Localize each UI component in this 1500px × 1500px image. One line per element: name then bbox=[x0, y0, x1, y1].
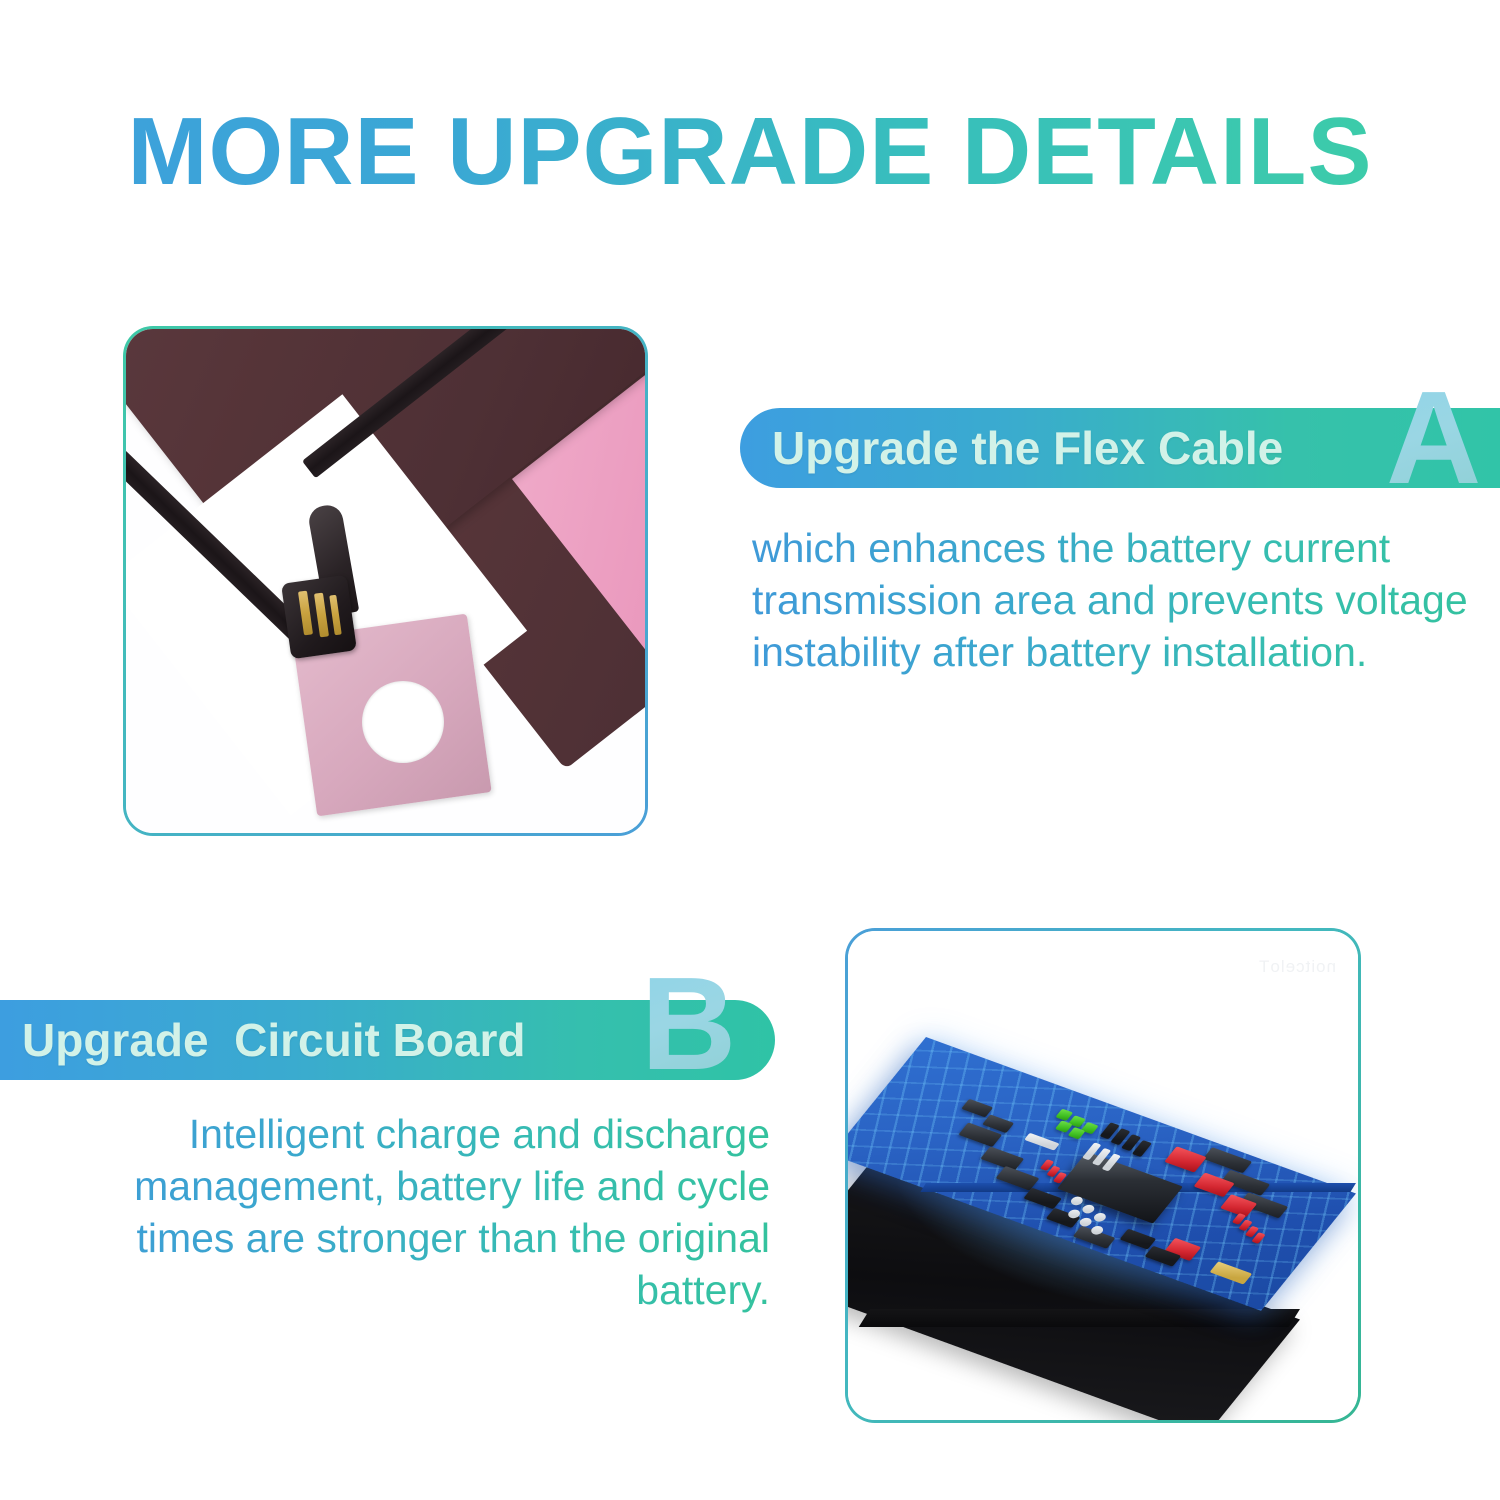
pcb-chip bbox=[980, 1146, 1024, 1171]
watermark-text: noitceloT bbox=[1258, 957, 1336, 977]
circuit-photo-inner: noitceloT bbox=[848, 931, 1358, 1420]
flex-cable-hole bbox=[362, 681, 444, 763]
circuit-board-illustration: noitceloT bbox=[848, 931, 1358, 1420]
battery-flex-cable-photo bbox=[123, 326, 648, 836]
pcb-round-cap bbox=[1080, 1203, 1096, 1214]
circuit-board-photo: noitceloT bbox=[845, 928, 1361, 1423]
pcb-chip bbox=[1120, 1229, 1157, 1250]
section-a-body-text: which enhances the battery current trans… bbox=[752, 522, 1492, 678]
pcb-chip bbox=[1203, 1147, 1252, 1173]
pcb-chip bbox=[1023, 1188, 1062, 1210]
pcb-round-cap bbox=[1092, 1212, 1108, 1223]
section-a-heading-label: Upgrade the Flex Cable bbox=[772, 425, 1283, 471]
pcb-header-strip bbox=[1024, 1133, 1060, 1151]
section-b-body-text: Intelligent charge and discharge managem… bbox=[40, 1108, 770, 1316]
infographic-canvas: MORE UPGRADE DETAILS bbox=[0, 0, 1500, 1500]
page-title: MORE UPGRADE DETAILS bbox=[0, 104, 1500, 200]
battery-photo-inner bbox=[126, 329, 645, 833]
pcb-base-side bbox=[859, 1309, 1300, 1327]
section-a-heading-bar: Upgrade the Flex Cable bbox=[740, 408, 1500, 488]
pcb-gold-pad bbox=[1210, 1261, 1253, 1284]
pcb-capacitor bbox=[1164, 1146, 1206, 1172]
section-b-heading-label: Upgrade Circuit Board bbox=[22, 1017, 526, 1063]
battery-illustration bbox=[126, 329, 645, 833]
section-b-heading-bar: Upgrade Circuit Board bbox=[0, 1000, 775, 1080]
